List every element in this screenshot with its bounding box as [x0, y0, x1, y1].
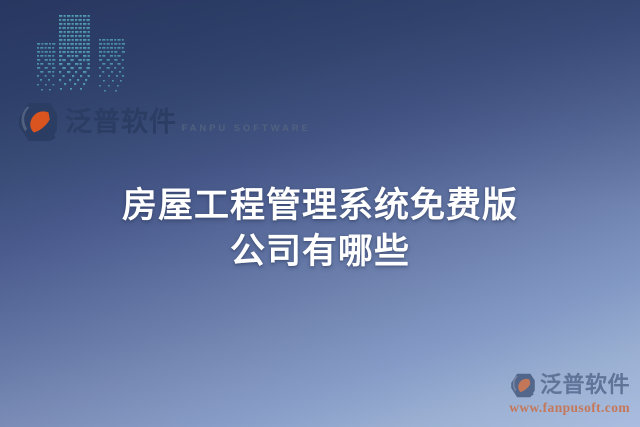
- corner-watermark: 泛普软件 www.fanpusoft.com: [509, 373, 630, 416]
- fanpu-watermark-mark-icon: [510, 373, 536, 398]
- fanpu-logo-mark-icon: [17, 102, 59, 142]
- brand-logo: 泛普软件 FANPU SOFTWARE: [17, 102, 311, 142]
- brand-wordmark: 泛普软件 FANPU SOFTWARE: [65, 109, 311, 136]
- watermark-brand-name: 泛普软件: [540, 375, 630, 397]
- banner-image: 泛普软件 FANPU SOFTWARE 房屋工程管理系统免费版 公司有哪些 泛普…: [0, 0, 640, 427]
- building-right: [99, 39, 125, 92]
- building-center: [59, 15, 90, 90]
- watermark-url: www.fanpusoft.com: [509, 400, 630, 416]
- watermark-logo-row: 泛普软件: [509, 373, 630, 398]
- pixel-cityscape-decoration: [36, 2, 128, 96]
- brand-name-cn: 泛普软件: [65, 107, 177, 138]
- headline-line-1: 房屋工程管理系统免费版: [0, 183, 640, 229]
- headline-title: 房屋工程管理系统免费版 公司有哪些: [0, 183, 640, 275]
- headline-line-2: 公司有哪些: [0, 229, 640, 275]
- building-left: [37, 43, 55, 91]
- brand-name-en: FANPU SOFTWARE: [181, 123, 310, 134]
